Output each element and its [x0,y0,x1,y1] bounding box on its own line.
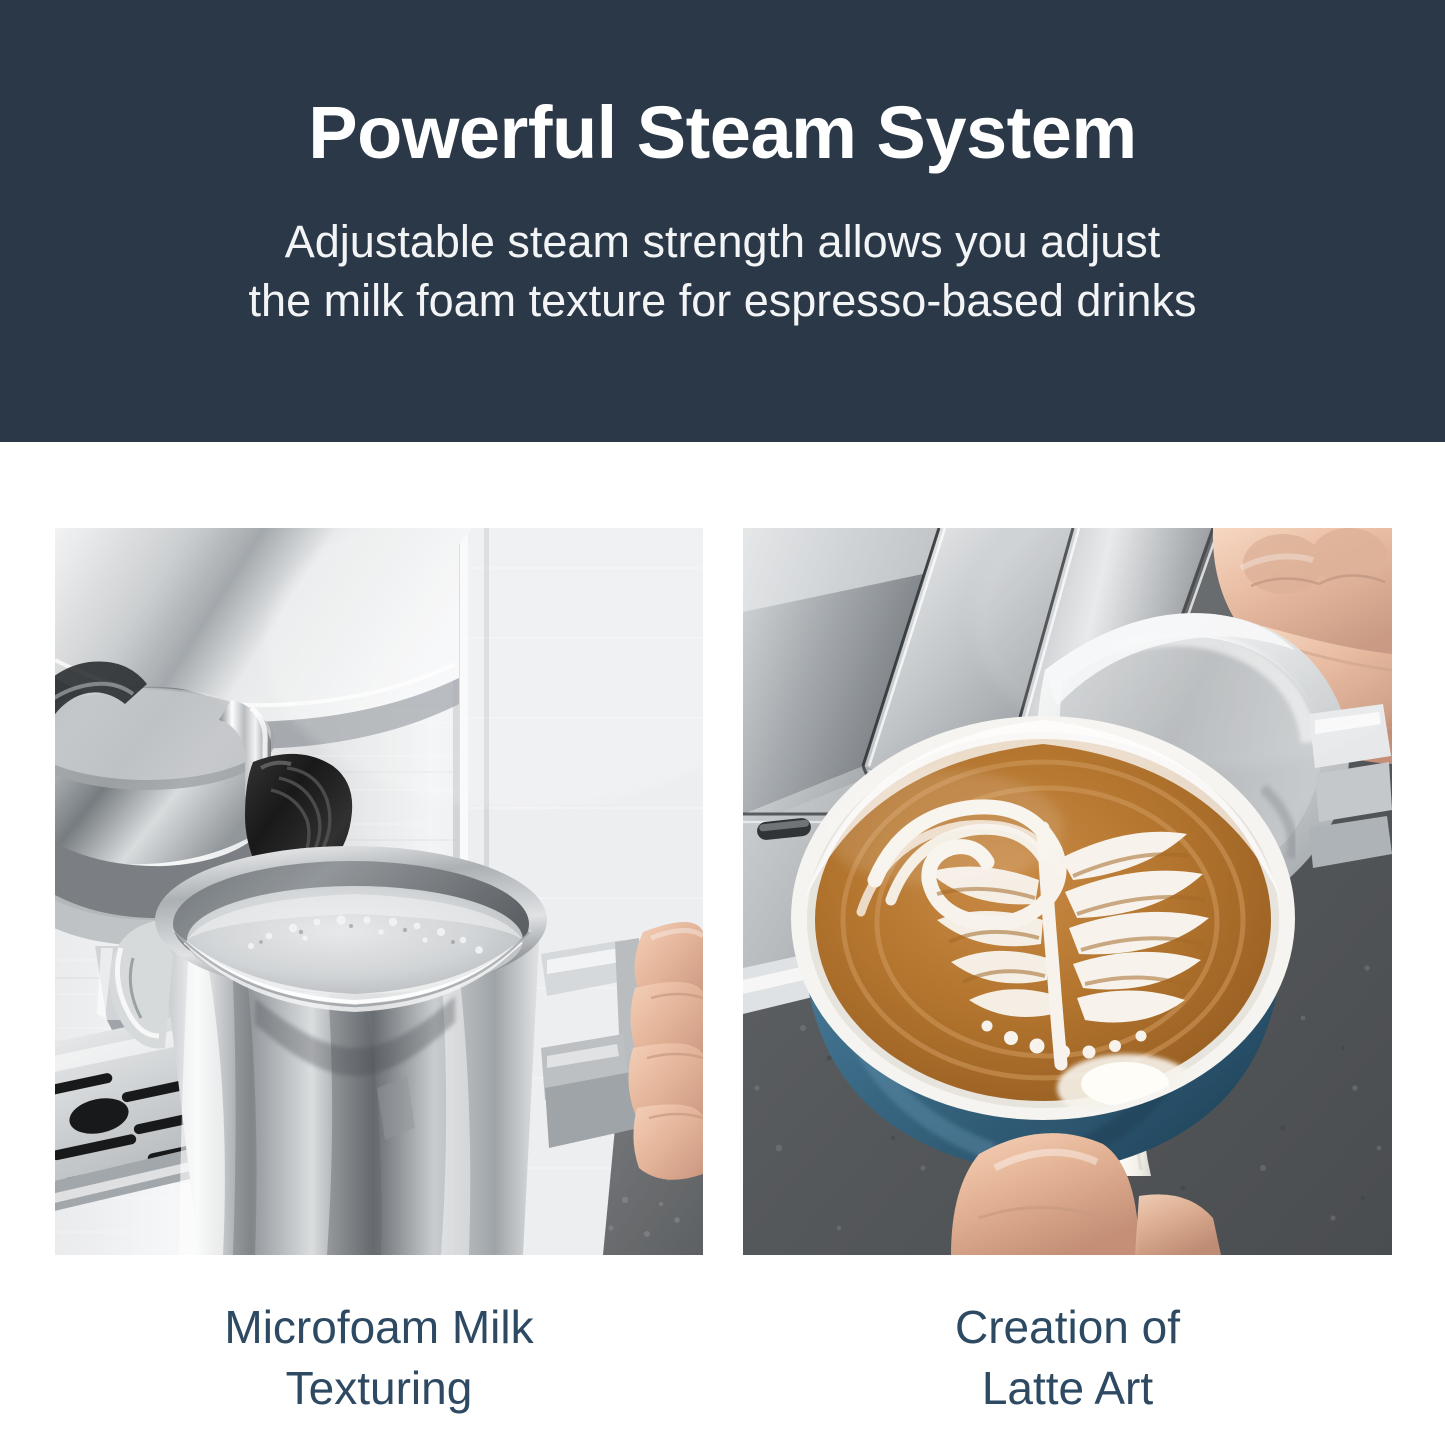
subtitle-line-1: Adjustable steam strength allows you adj… [249,212,1197,271]
header-banner: Powerful Steam System Adjustable steam s… [0,0,1445,442]
caption-microfoam-line-1: Microfoam Milk [55,1297,703,1358]
caption-microfoam-line-2: Texturing [55,1358,703,1419]
photo-microfoam-milk-texturing [55,528,703,1255]
photo-creation-of-latte-art [743,528,1392,1255]
page-title: Powerful Steam System [308,96,1136,170]
caption-latte-art-line-1: Creation of [743,1297,1392,1358]
panel-microfoam: Microfoam Milk Texturing [55,528,703,1418]
header-subtitle: Adjustable steam strength allows you adj… [249,212,1197,331]
feature-panels: Microfoam Milk Texturing [0,442,1445,1445]
caption-latte-art-line-2: Latte Art [743,1358,1392,1419]
caption-latte-art: Creation of Latte Art [743,1297,1392,1418]
subtitle-line-2: the milk foam texture for espresso-based… [249,271,1197,330]
panel-latte-art: Creation of Latte Art [743,528,1392,1418]
caption-microfoam: Microfoam Milk Texturing [55,1297,703,1418]
